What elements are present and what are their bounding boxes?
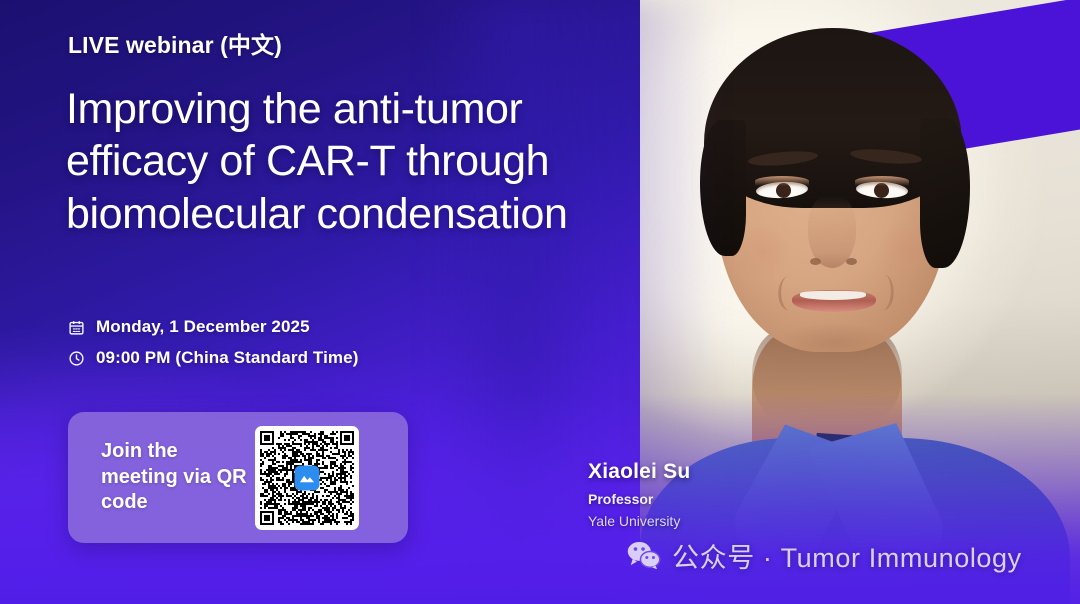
- schedule-time-text: 09:00 PM (China Standard Time): [96, 348, 358, 368]
- join-meeting-label: Join the meeting via QR code: [101, 439, 251, 516]
- speaker-role: Professor: [588, 491, 690, 507]
- live-webinar-kicker: LIVE webinar (中文): [68, 26, 282, 60]
- join-meeting-card[interactable]: Join the meeting via QR code: [68, 412, 408, 543]
- schedule-time-row: 09:00 PM (China Standard Time): [68, 348, 358, 368]
- clock-icon: [68, 350, 85, 367]
- wechat-watermark-text: 公众号 · Tumor Immunology: [672, 536, 1022, 575]
- schedule-date-row: Monday, 1 December 2025: [68, 317, 358, 337]
- meeting-app-icon: [295, 465, 320, 490]
- wechat-watermark: 公众号 · Tumor Immunology: [627, 536, 1022, 575]
- page-title: Improving the anti-tumor efficacy of CAR…: [66, 83, 586, 240]
- schedule-date-text: Monday, 1 December 2025: [96, 317, 310, 337]
- speaker-name: Xiaolei Su: [588, 460, 690, 484]
- speaker-block: Xiaolei Su Professor Yale University: [588, 460, 690, 529]
- wechat-icon: [627, 541, 661, 570]
- meeting-qr-code[interactable]: [255, 426, 359, 530]
- poster-content: LIVE webinar (中文) Improving the anti-tum…: [0, 0, 1080, 604]
- speaker-organization: Yale University: [588, 513, 690, 529]
- schedule-block: Monday, 1 December 2025 09:00 PM (China …: [68, 317, 358, 379]
- webinar-poster: LIVE webinar (中文) Improving the anti-tum…: [0, 0, 1080, 604]
- calendar-icon: [68, 319, 85, 336]
